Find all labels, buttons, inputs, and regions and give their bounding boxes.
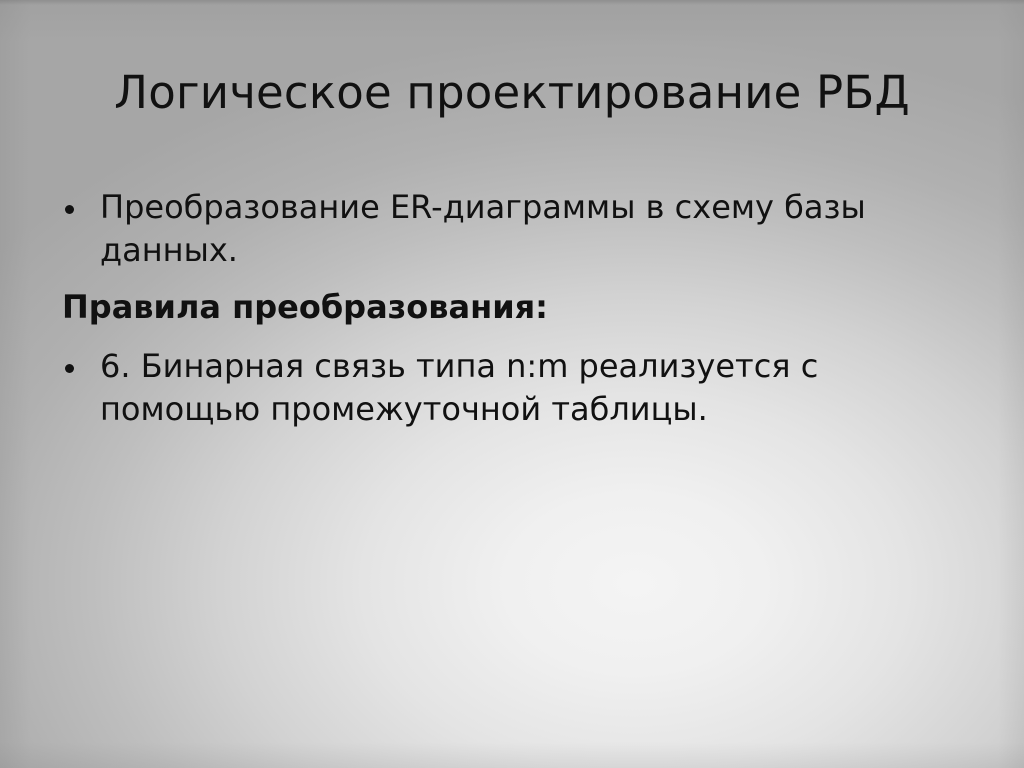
- round-bullet-icon: [65, 205, 74, 214]
- rules-heading: Правила преобразования:: [54, 286, 884, 329]
- page-title: Логическое проектирование РБД: [0, 64, 1024, 122]
- round-bullet-icon: [65, 364, 74, 373]
- bullet-item: Преобразование ER-диаграммы в схему базы…: [54, 186, 884, 272]
- bullet-item-text: 6. Бинарная связь типа n:m реализуется с…: [100, 347, 818, 428]
- rules-heading-text: Правила преобразования:: [62, 288, 548, 326]
- bullet-item-text: Преобразование ER-диаграммы в схему базы…: [100, 188, 866, 269]
- presentation-slide: Логическое проектирование РБД Преобразов…: [0, 0, 1024, 768]
- bullet-item: 6. Бинарная связь типа n:m реализуется с…: [54, 345, 884, 431]
- slide-body: Преобразование ER-диаграммы в схему базы…: [54, 186, 884, 445]
